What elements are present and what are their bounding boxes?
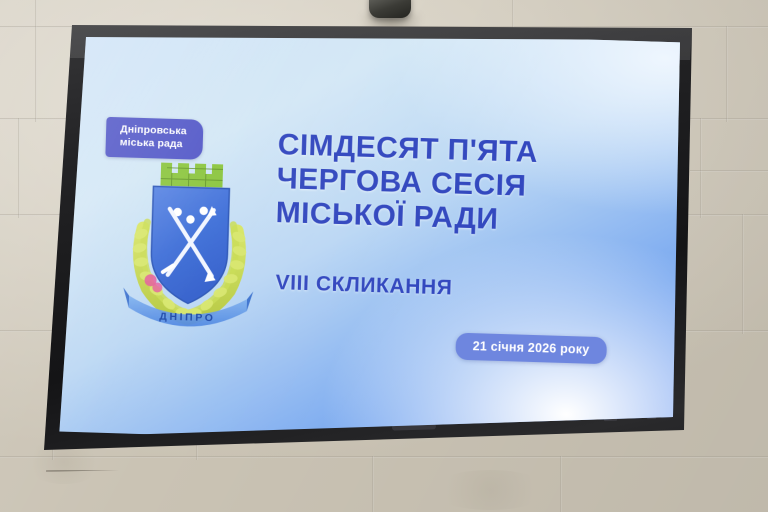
organization-badge: Дніпровська міська рада: [105, 117, 203, 160]
slide-title: СІМДЕСЯТ П'ЯТА ЧЕРГОВА СЕСІЯ МІСЬКОЇ РАД…: [275, 128, 678, 242]
presentation-slide: Дніпровська міська рада: [53, 24, 690, 451]
ribbon-text: ДНІПРО: [159, 311, 216, 325]
dnipro-coat-of-arms-emblem: ДНІПРО: [122, 156, 257, 335]
slide-subtitle: VIII СКЛИКАННЯ: [275, 271, 453, 300]
date-badge: 21 січня 2026 року: [455, 333, 607, 365]
coat-of-arms-svg: ДНІПРО: [122, 156, 257, 335]
mural-crown-icon: [160, 163, 223, 188]
org-badge-line2: міська рада: [120, 137, 187, 152]
wall-mounted-display[interactable]: Дніпровська міська рада: [0, 0, 768, 512]
